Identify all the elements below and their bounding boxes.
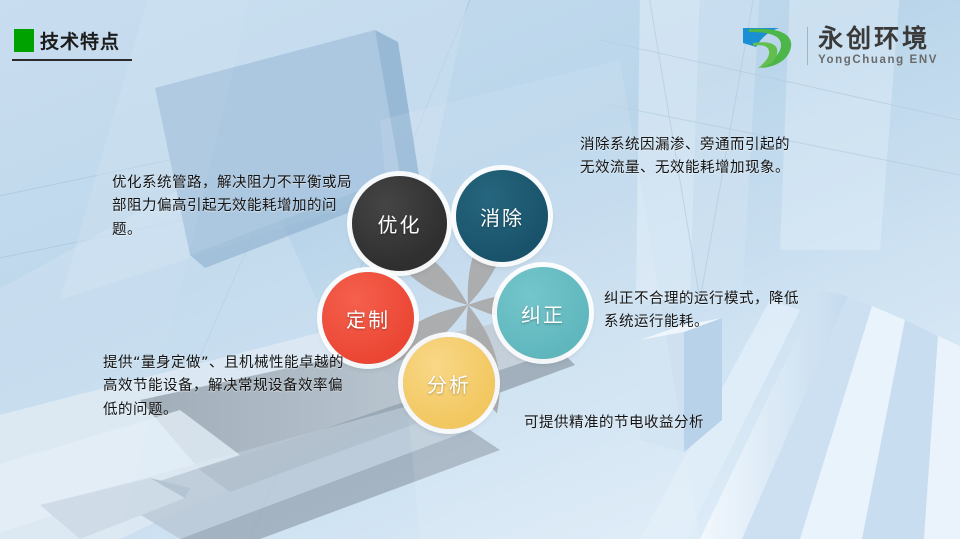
logo-name-cn: 永创环境 bbox=[818, 26, 938, 52]
description-correct: 纠正不合理的运行模式，降低系统运行能耗。 bbox=[604, 288, 810, 335]
wheel-node-customize[interactable]: 定制 bbox=[322, 272, 414, 364]
description-analyze: 可提供精准的节电收益分析 bbox=[524, 412, 804, 435]
header-marker-square bbox=[14, 29, 34, 52]
page-title: 技术特点 bbox=[40, 27, 120, 54]
wheel-node-analyze[interactable]: 分析 bbox=[403, 337, 495, 429]
description-customize: 提供“量身定做”、且机械性能卓越的高效节能设备，解决常规设备效率偏低的问题。 bbox=[103, 352, 357, 422]
slide-canvas: 技术特点 永创环境 YongChuang ENV bbox=[0, 0, 960, 539]
logo-divider bbox=[807, 27, 808, 65]
wheel-node-eliminate[interactable]: 消除 bbox=[456, 170, 548, 262]
wheel-node-correct[interactable]: 纠正 bbox=[497, 267, 589, 359]
company-logo: 永创环境 YongChuang ENV bbox=[739, 20, 938, 72]
description-eliminate: 消除系统因漏渗、旁通而引起的无效流量、无效能耗增加现象。 bbox=[580, 134, 798, 181]
logo-name-en: YongChuang ENV bbox=[818, 54, 938, 66]
yongchuang-leaf-icon bbox=[739, 23, 799, 69]
wheel-node-optimize[interactable]: 优化 bbox=[352, 176, 447, 271]
header-underline bbox=[12, 59, 132, 61]
description-optimize: 优化系统管路，解决阻力不平衡或局部阻力偏高引起无效能耗增加的问题。 bbox=[112, 172, 356, 242]
